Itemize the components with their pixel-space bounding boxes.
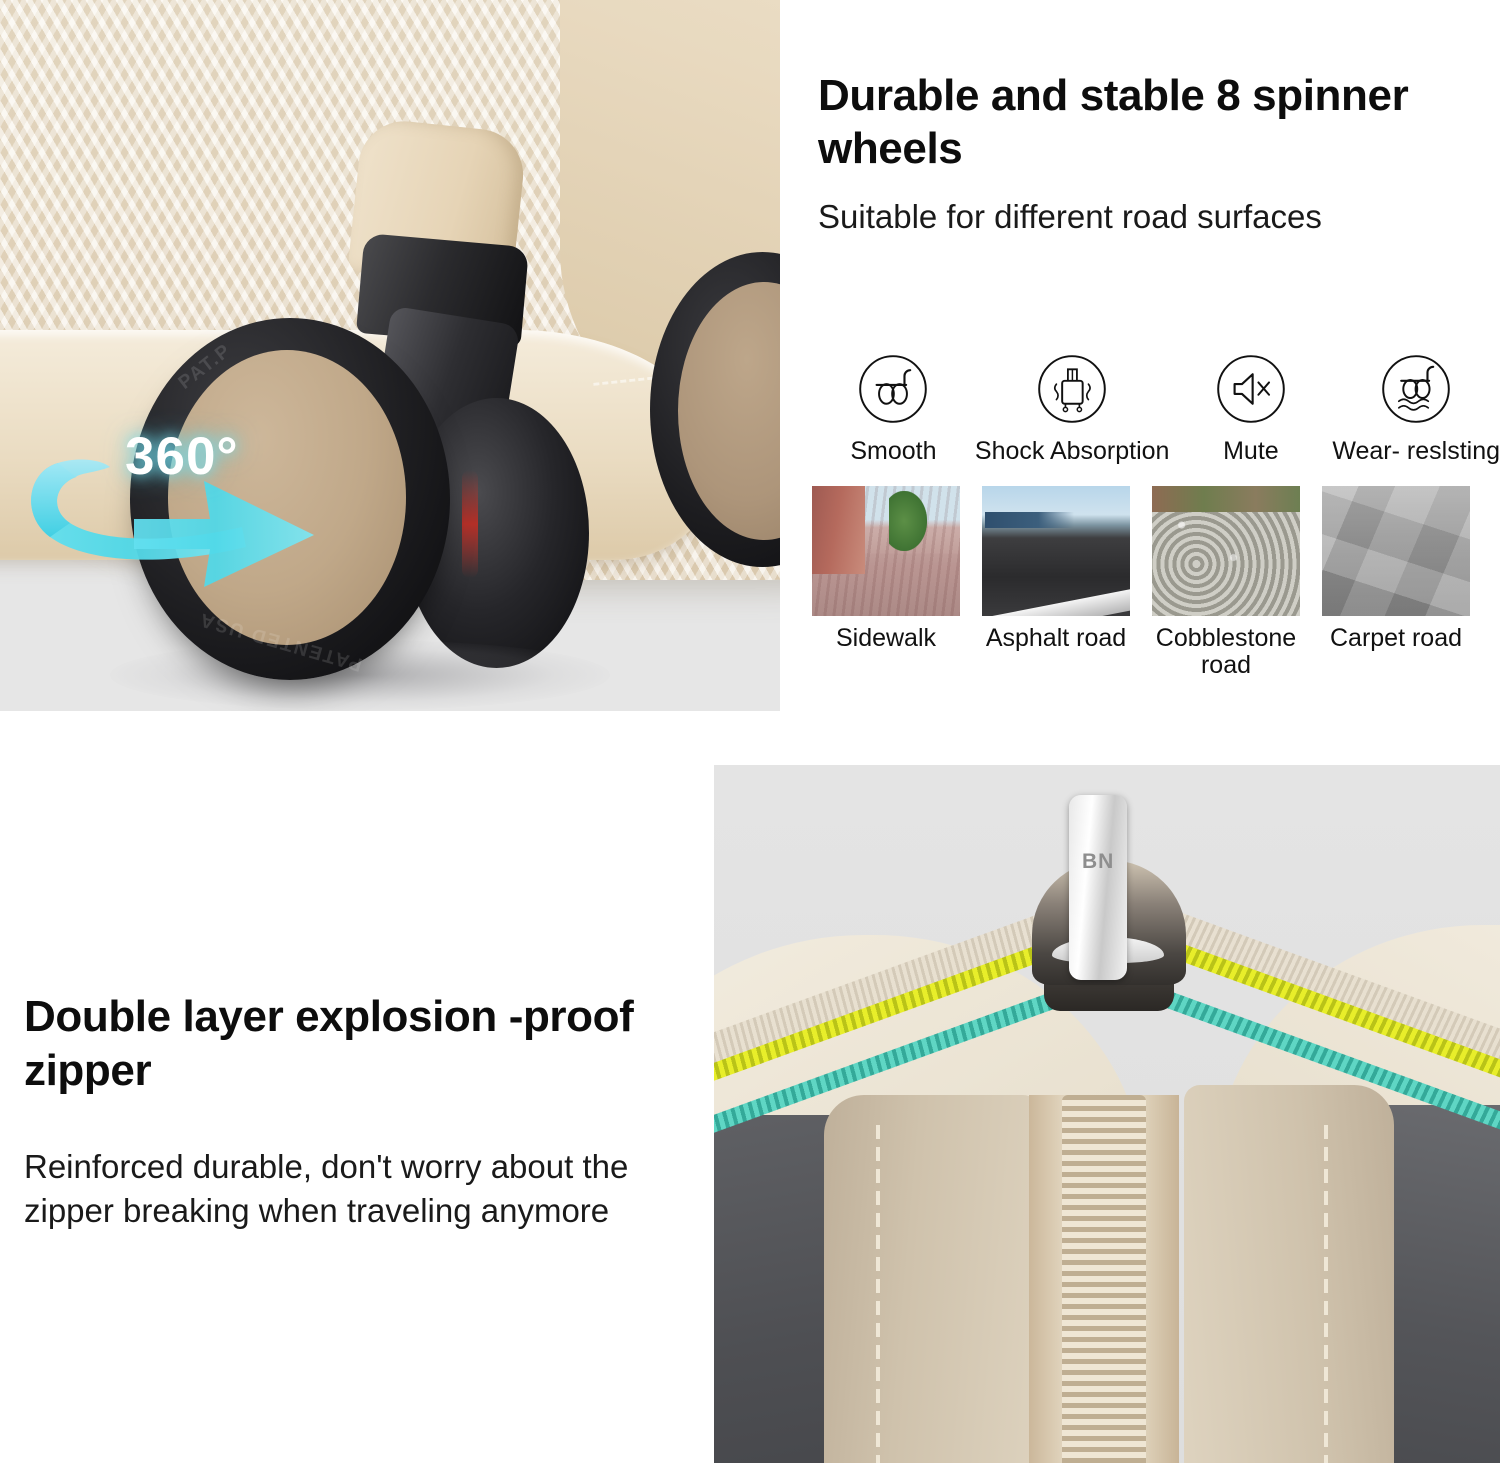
suitcase-vibration-icon bbox=[1031, 348, 1113, 430]
feature-wear-resisting: Wear- reslsting bbox=[1332, 348, 1500, 466]
stitch-line-right bbox=[1324, 1125, 1328, 1463]
padded-lining-right bbox=[1184, 1085, 1394, 1463]
sidewalk-thumb bbox=[812, 486, 960, 616]
zipper-subline: Reinforced durable, don't worry about th… bbox=[24, 1145, 684, 1232]
feature-label: Mute bbox=[1223, 437, 1279, 466]
surface-label: Carpet road bbox=[1330, 625, 1462, 652]
feature-mute: Mute bbox=[1169, 348, 1332, 466]
feature-label: Shock Absorption bbox=[975, 437, 1170, 466]
zipper-text-block: Double layer explosion -proof zipper Rei… bbox=[24, 990, 684, 1232]
road-surface-row: Sidewalk Asphalt road Cobblestone road C… bbox=[812, 486, 1500, 679]
asphalt-road-thumb bbox=[982, 486, 1130, 616]
caster-wheel-waves-icon bbox=[1375, 348, 1457, 430]
wheels-subline: Suitable for different road surfaces bbox=[818, 196, 1488, 239]
surface-label: Asphalt road bbox=[986, 625, 1126, 652]
wheels-headline: Durable and stable 8 spinner wheels bbox=[818, 70, 1488, 176]
zipper-photo: BN bbox=[714, 765, 1500, 1463]
inner-zipper-teeth bbox=[1062, 1095, 1146, 1463]
surface-cobblestone-road: Cobblestone road bbox=[1152, 486, 1300, 679]
wheels-text-block: Durable and stable 8 spinner wheels Suit… bbox=[818, 70, 1488, 238]
carpet-road-thumb bbox=[1322, 486, 1470, 616]
cobblestone-road-thumb bbox=[1152, 486, 1300, 616]
feature-label: Smooth bbox=[850, 437, 936, 466]
feature-smooth: Smooth bbox=[812, 348, 975, 466]
zipper-pull-brand-mark: BN bbox=[1082, 851, 1114, 872]
caster-wheel-icon bbox=[852, 348, 934, 430]
stitch-line-left bbox=[876, 1125, 880, 1463]
surface-asphalt-road: Asphalt road bbox=[982, 486, 1130, 679]
feature-label: Wear- reslsting bbox=[1332, 437, 1500, 466]
surface-carpet-road: Carpet road bbox=[1322, 486, 1470, 679]
wheel-feature-row: Smooth Shock Absorption Mute bbox=[812, 348, 1500, 466]
surface-label: Sidewalk bbox=[836, 625, 936, 652]
feature-shock-absorption: Shock Absorption bbox=[975, 348, 1170, 466]
padded-lining-left bbox=[824, 1095, 1039, 1463]
surface-label: Cobblestone road bbox=[1152, 625, 1300, 679]
speaker-mute-icon bbox=[1210, 348, 1292, 430]
surface-sidewalk: Sidewalk bbox=[812, 486, 960, 679]
rear-wheel-accent bbox=[462, 470, 478, 578]
spinner-wheel-photo: PAT.P PATENTED USA 360° bbox=[0, 0, 780, 711]
zipper-headline: Double layer explosion -proof zipper bbox=[24, 990, 684, 1097]
rotation-badge-360: 360° bbox=[125, 426, 239, 487]
zipper-pull-tab bbox=[1069, 795, 1127, 980]
